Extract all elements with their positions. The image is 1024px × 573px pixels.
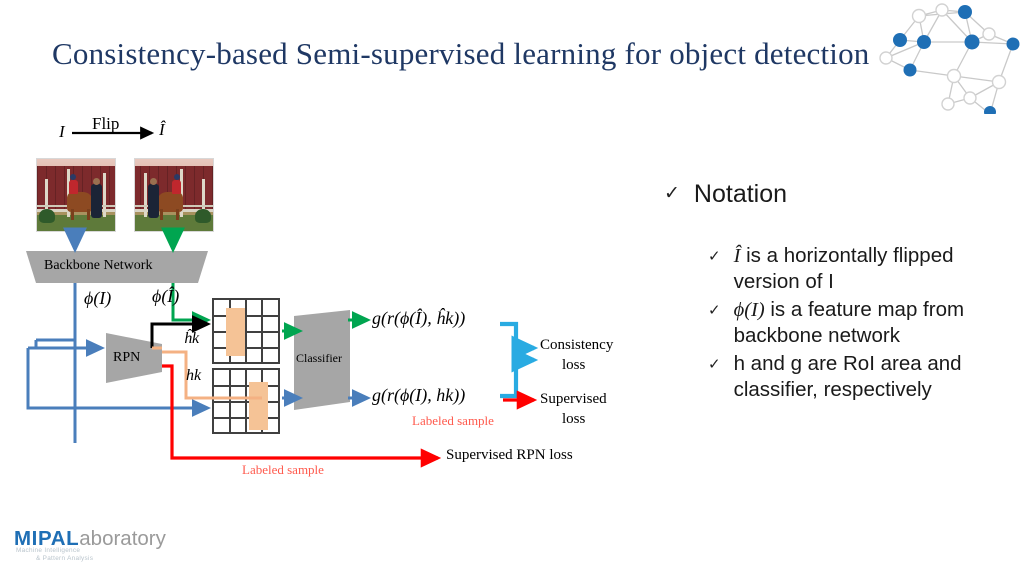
notation-item-text: Î is a horizontally flipped version of I <box>734 243 1016 294</box>
check-icon: ✓ <box>708 351 721 372</box>
list-item: ✓ ϕ(I) is a feature map from backbone ne… <box>708 297 1016 348</box>
consistency-loss-label-line1: Consistency <box>540 337 613 354</box>
slide-canvas: Consistency-based Semi-supervised learni… <box>0 0 1024 573</box>
expression-consistency: g(r(ϕ(Î), ĥk)) <box>372 308 465 329</box>
phi-i-hat-label: ϕ(Î) <box>152 286 179 307</box>
supervised-loss-label-line2: loss <box>562 411 585 428</box>
logo-brand-light: aboratory <box>79 527 166 550</box>
check-icon: ✓ <box>708 243 721 264</box>
notation-panel: ✓ Notation ✓ Î is a horizontally flipped… <box>664 180 1016 405</box>
h-k-label: hk <box>186 367 201 385</box>
notation-item-symbol: ϕ(I) <box>734 299 765 321</box>
notation-item-rest: is a feature map from backbone network <box>734 298 964 347</box>
check-icon: ✓ <box>664 180 680 203</box>
check-icon: ✓ <box>708 297 721 318</box>
logo-subtitle-line2: & Pattern Analysis <box>36 555 93 562</box>
h-k-hat-label: ĥk <box>184 330 199 348</box>
mipal-logo: MIPALaboratory Machine Intelligence & Pa… <box>14 527 214 567</box>
notation-heading: Notation <box>694 180 787 209</box>
notation-item-text: ϕ(I) is a feature map from backbone netw… <box>734 297 1016 348</box>
logo-subtitle-line1: Machine Intelligence <box>16 547 80 554</box>
consistency-loss-label-line2: loss <box>562 357 585 374</box>
supervised-loss-label-line1: Supervised <box>540 391 607 408</box>
notation-heading-row: ✓ Notation <box>664 180 1016 209</box>
labeled-sample-upper: Labeled sample <box>412 413 494 429</box>
notation-item-text: h and g are RoI area and classifier, res… <box>734 351 1016 402</box>
brain-network-icon <box>862 0 1024 114</box>
phi-i-label: ϕ(I) <box>84 288 111 309</box>
notation-item-rest: h and g are RoI area and classifier, res… <box>734 352 962 401</box>
notation-list: ✓ Î is a horizontally flipped version of… <box>664 243 1016 402</box>
pipeline-diagram: I Flip Î <box>0 0 660 500</box>
labeled-sample-lower: Labeled sample <box>242 462 324 478</box>
flow-arrows <box>0 0 660 500</box>
list-item: ✓ h and g are RoI area and classifier, r… <box>708 351 1016 402</box>
notation-item-rest: is a horizontally flipped version of I <box>734 244 954 293</box>
expression-supervised: g(r(ϕ(I), hk)) <box>372 385 465 406</box>
list-item: ✓ Î is a horizontally flipped version of… <box>708 243 1016 294</box>
supervised-rpn-loss-label: Supervised RPN loss <box>446 447 573 464</box>
